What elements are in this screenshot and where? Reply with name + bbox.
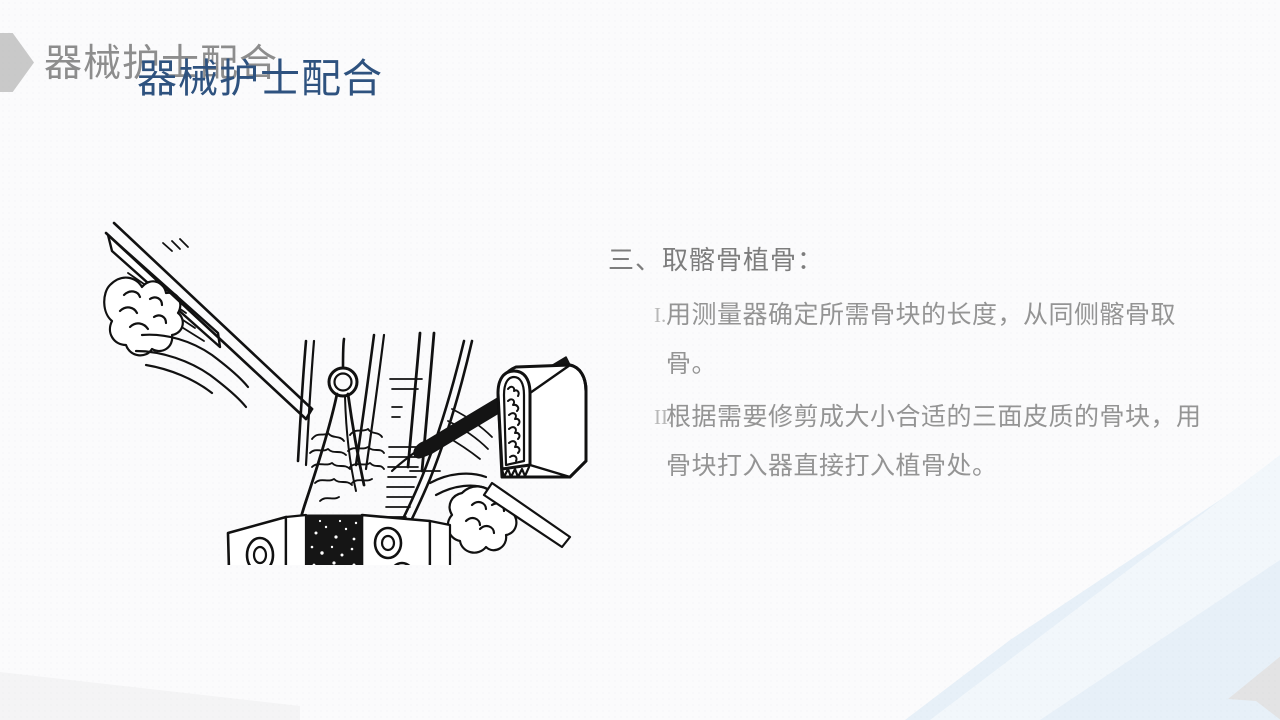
content-column: 三、取髂骨植骨： I. 用测量器确定所需骨块的长度，从同侧髂骨取骨。 II. 根… <box>608 244 1208 495</box>
surgical-illustration <box>100 165 620 565</box>
section-heading: 三、取髂骨植骨： <box>608 244 1208 277</box>
slide-canvas: 器械护士配合 器械护士配合 <box>0 0 1280 720</box>
list-item-text: 根据需要修剪成大小合适的三面皮质的骨块，用骨块打入器直接打入植骨处。 <box>666 393 1208 491</box>
bullet-list: I. 用测量器确定所需骨块的长度，从同侧髂骨取骨。 II. 根据需要修剪成大小合… <box>608 291 1208 491</box>
list-item-marker: II. <box>608 393 666 442</box>
list-item: II. 根据需要修剪成大小合适的三面皮质的骨块，用骨块打入器直接打入植骨处。 <box>608 393 1208 491</box>
list-item: I. 用测量器确定所需骨块的长度，从同侧髂骨取骨。 <box>608 291 1208 389</box>
list-item-text: 用测量器确定所需骨块的长度，从同侧髂骨取骨。 <box>666 291 1208 389</box>
decor-arrow-bottomright-icon <box>1212 655 1280 720</box>
page-title: 器械护士配合 <box>137 58 383 100</box>
list-item-marker: I. <box>608 291 666 340</box>
